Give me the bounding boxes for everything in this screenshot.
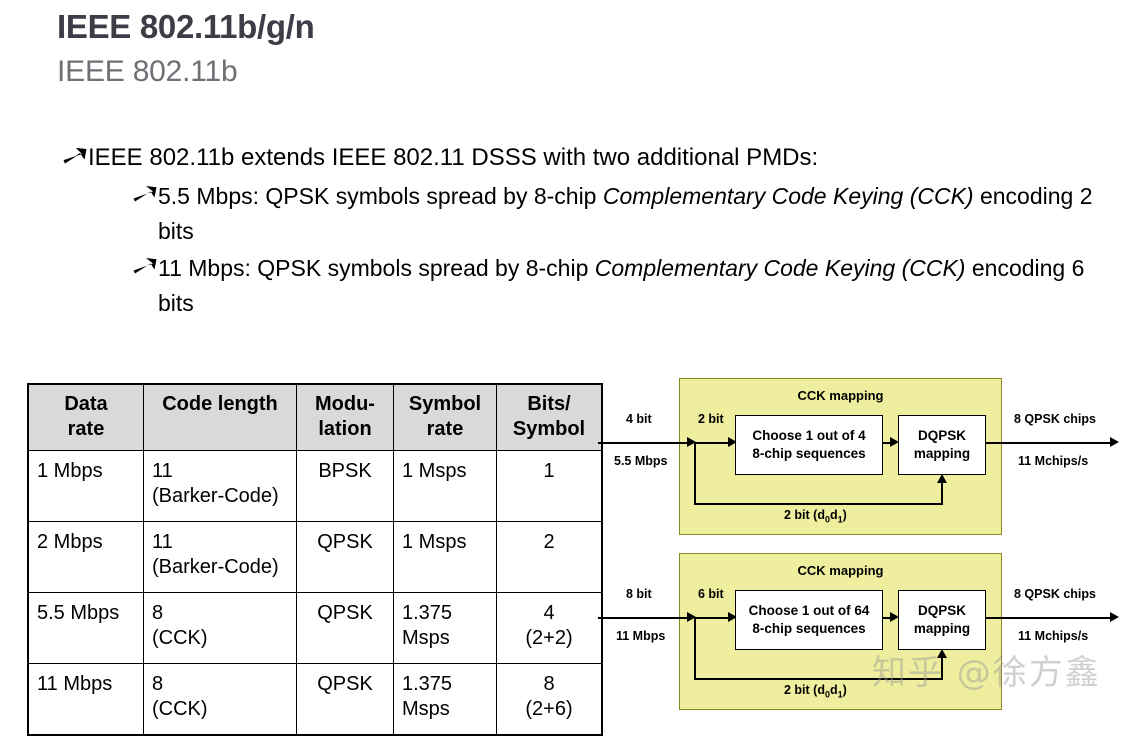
cck-mapping-diagram-5-5mbps: CCK mapping 4 bit 5.5 Mbps 2 bit 2 bit (…	[598, 376, 1122, 539]
table-header-modulation: Modu- lation	[297, 384, 394, 451]
cell-main: 8	[152, 672, 288, 697]
cell-code-length: 11 (Barker-Code)	[144, 522, 297, 593]
data-rate-table: Data rate Code length Modu- lation Symbo…	[27, 383, 603, 736]
feedback-down-line	[694, 617, 696, 679]
cell-main: 2	[505, 530, 593, 555]
cell-modulation: QPSK	[297, 593, 394, 664]
input-line	[598, 617, 690, 619]
feedback-mid: d	[830, 683, 838, 697]
bullet-item-level1: IEEE 802.11b extends IEEE 802.11 DSSS wi…	[0, 140, 1125, 175]
feedback-prefix: 2 bit (d	[784, 508, 825, 522]
header-line-1: Code length	[162, 393, 278, 415]
header-line-1: Data	[64, 393, 107, 415]
cell-main: 1.375	[402, 672, 488, 697]
table-row: 5.5 Mbps 8 (CCK) QPSK 1.375 Msps 4 (2+2)	[28, 593, 602, 664]
arrow-up-right-bullet-icon	[62, 147, 88, 175]
branch-bits-label: 6 bit	[698, 587, 724, 601]
output-line	[986, 617, 1114, 619]
branch-bits-label: 2 bit	[698, 412, 724, 426]
input-bits-label: 8 bit	[626, 587, 652, 601]
cell-main: 1.375	[402, 601, 488, 626]
feedback-suffix: )	[843, 508, 847, 522]
cell-bits-per-symbol: 8 (2+6)	[497, 664, 603, 736]
choose-sequences-box: Choose 1 out of 64 8-chip sequences	[735, 590, 883, 650]
bullet-text-level2: 11 Mbps: QPSK symbols spread by 8-chip C…	[158, 251, 1125, 321]
bullet-text-plain-before: 5.5 Mbps: QPSK symbols spread by 8-chip	[158, 183, 603, 209]
cck-mapping-diagram-11mbps: CCK mapping 8 bit 11 Mbps 6 bit 2 bit (d…	[598, 551, 1122, 714]
cell-modulation: BPSK	[297, 451, 394, 522]
cell-bits-per-symbol: 4 (2+2)	[497, 593, 603, 664]
bullet-text-italic: Complementary Code Keying (CCK)	[603, 183, 974, 209]
choose-line-1: Choose 1 out of 64	[749, 602, 870, 620]
output-rate-label: 11 Mchips/s	[1018, 454, 1088, 468]
cell-secondary: (Barker-Code)	[152, 555, 288, 580]
header-line-1: Symbol	[409, 393, 481, 415]
arrow-up-right-bullet-icon	[132, 257, 158, 285]
output-arrowhead-icon	[1110, 612, 1119, 622]
bullet-text-italic: Complementary Code Keying (CCK)	[595, 255, 966, 281]
table-row: 11 Mbps 8 (CCK) QPSK 1.375 Msps 8 (2+6)	[28, 664, 602, 736]
cell-main: 1 Msps	[402, 530, 488, 555]
cell-modulation: QPSK	[297, 664, 394, 736]
table-header-code-length: Code length	[144, 384, 297, 451]
bullet-text-level2: 5.5 Mbps: QPSK symbols spread by 8-chip …	[158, 179, 1125, 249]
dqpsk-line-2: mapping	[914, 620, 970, 638]
cell-bits-per-symbol: 1	[497, 451, 603, 522]
header-line-1: Modu-	[315, 393, 375, 415]
cell-code-length: 11 (Barker-Code)	[144, 451, 297, 522]
table-header-symbol-rate: Symbol rate	[394, 384, 497, 451]
cell-symbol-rate: 1 Msps	[394, 451, 497, 522]
cell-modulation: QPSK	[297, 522, 394, 593]
feedback-mid: d	[830, 508, 838, 522]
header-line-2: rate	[427, 418, 464, 440]
feedback-up-line	[941, 655, 943, 679]
feedback-arrowhead-icon	[937, 649, 947, 658]
table-row: 2 Mbps 11 (Barker-Code) QPSK 1 Msps 2	[28, 522, 602, 593]
feedback-horizontal-line	[694, 503, 943, 505]
bullet-list: IEEE 802.11b extends IEEE 802.11 DSSS wi…	[0, 140, 1125, 323]
input-line	[598, 442, 690, 444]
header-line-2: Symbol	[513, 418, 585, 440]
cell-secondary: (CCK)	[152, 626, 288, 651]
output-line	[986, 442, 1114, 444]
cell-symbol-rate: 1 Msps	[394, 522, 497, 593]
cell-code-length: 8 (CCK)	[144, 593, 297, 664]
cell-secondary: Msps	[402, 626, 488, 651]
input-rate-label: 5.5 Mbps	[614, 454, 668, 468]
cell-data-rate: 1 Mbps	[28, 451, 144, 522]
feedback-suffix: )	[843, 683, 847, 697]
cell-code-length: 8 (CCK)	[144, 664, 297, 736]
output-chips-label: 8 QPSK chips	[1014, 587, 1096, 601]
bullet-text-level1: IEEE 802.11b extends IEEE 802.11 DSSS wi…	[88, 140, 1125, 175]
cell-main: 11	[152, 459, 288, 484]
output-chips-label: 8 QPSK chips	[1014, 412, 1096, 426]
feedback-arrowhead-icon	[937, 474, 947, 483]
input-bits-label: 4 bit	[626, 412, 652, 426]
table-header-data-rate: Data rate	[28, 384, 144, 451]
header-line-2: lation	[318, 418, 371, 440]
cell-secondary: (2+2)	[505, 626, 593, 651]
bullet-item-level2-55mbps: 5.5 Mbps: QPSK symbols spread by 8-chip …	[0, 179, 1125, 249]
choose-line-2: 8-chip sequences	[752, 620, 865, 638]
dqpsk-mapping-box: DQPSK mapping	[898, 415, 986, 475]
table-header-bits-symbol: Bits/ Symbol	[497, 384, 603, 451]
cell-main: 8	[152, 601, 288, 626]
page-title: IEEE 802.11b/g/n	[57, 8, 315, 46]
table-row: 1 Mbps 11 (Barker-Code) BPSK 1 Msps 1	[28, 451, 602, 522]
cell-main: 1 Msps	[402, 459, 488, 484]
table-header-row: Data rate Code length Modu- lation Symbo…	[28, 384, 602, 451]
choose-line-2: 8-chip sequences	[752, 445, 865, 463]
cell-symbol-rate: 1.375 Msps	[394, 664, 497, 736]
cell-main: 11	[152, 530, 288, 555]
cell-bits-per-symbol: 2	[497, 522, 603, 593]
dqpsk-line-2: mapping	[914, 445, 970, 463]
feedback-horizontal-line	[694, 678, 943, 680]
cell-data-rate: 5.5 Mbps	[28, 593, 144, 664]
cell-symbol-rate: 1.375 Msps	[394, 593, 497, 664]
output-rate-label: 11 Mchips/s	[1018, 629, 1088, 643]
cck-mapping-title: CCK mapping	[679, 388, 1002, 403]
dqpsk-line-1: DQPSK	[918, 427, 966, 445]
bullet-text-plain-before: 11 Mbps: QPSK symbols spread by 8-chip	[158, 255, 595, 281]
cell-data-rate: 11 Mbps	[28, 664, 144, 736]
dqpsk-mapping-box: DQPSK mapping	[898, 590, 986, 650]
cell-secondary: (Barker-Code)	[152, 484, 288, 509]
feedback-up-line	[941, 480, 943, 504]
page-subtitle: IEEE 802.11b	[57, 55, 238, 89]
feedback-prefix: 2 bit (d	[784, 683, 825, 697]
arrow-up-right-bullet-icon	[132, 185, 158, 213]
cell-main: 1	[505, 459, 593, 484]
choose-line-1: Choose 1 out of 4	[752, 427, 865, 445]
cell-main: 8	[505, 672, 593, 697]
header-line-1: Bits/	[527, 393, 570, 415]
dqpsk-line-1: DQPSK	[918, 602, 966, 620]
header-line-2: rate	[68, 418, 105, 440]
feedback-down-line	[694, 442, 696, 504]
feedback-bits-label: 2 bit (d0d1)	[784, 508, 847, 525]
bullet-item-level2-11mbps: 11 Mbps: QPSK symbols spread by 8-chip C…	[0, 251, 1125, 321]
input-rate-label: 11 Mbps	[616, 629, 665, 643]
cck-mapping-title: CCK mapping	[679, 563, 1002, 578]
cell-main: 4	[505, 601, 593, 626]
cell-data-rate: 2 Mbps	[28, 522, 144, 593]
choose-sequences-box: Choose 1 out of 4 8-chip sequences	[735, 415, 883, 475]
output-arrowhead-icon	[1110, 437, 1119, 447]
feedback-bits-label: 2 bit (d0d1)	[784, 683, 847, 700]
